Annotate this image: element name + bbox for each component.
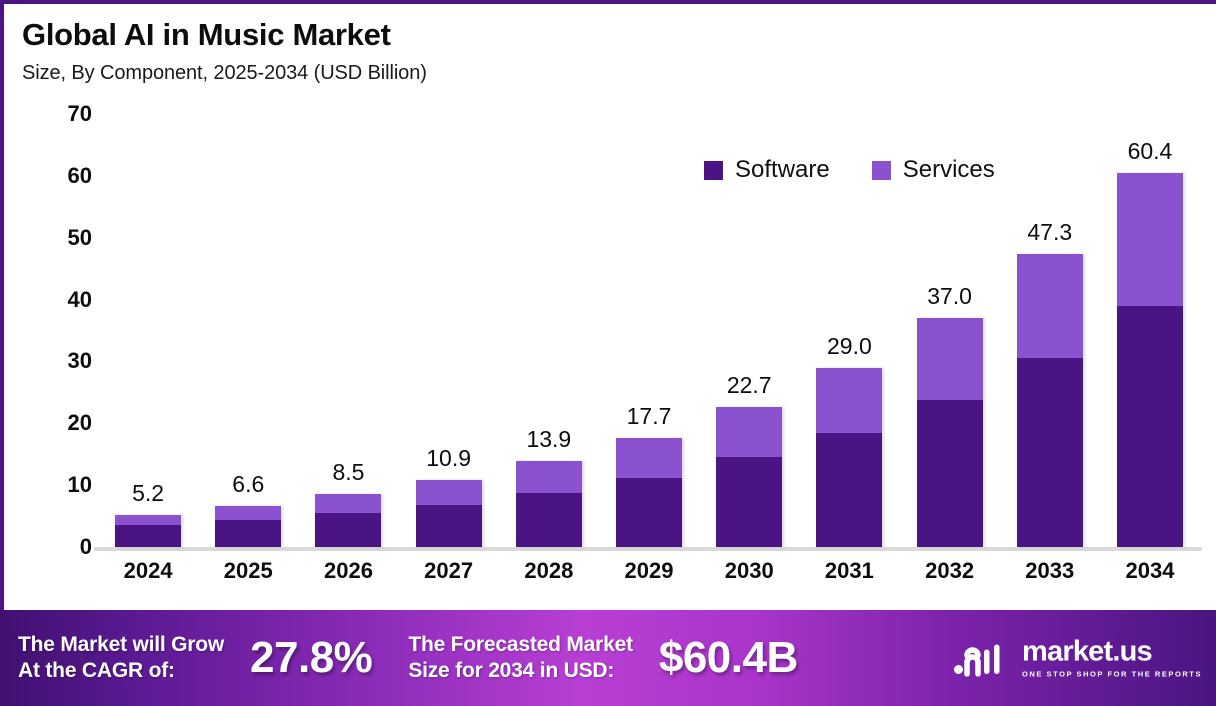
y-axis-tick: 70 bbox=[68, 101, 92, 127]
bar-total-label: 29.0 bbox=[799, 333, 899, 360]
bar-column[interactable]: 17.7 bbox=[599, 114, 699, 547]
bar-segment-software[interactable] bbox=[115, 525, 181, 547]
logo-text: market.us ONE STOP SHOP FOR THE REPORTS bbox=[1022, 638, 1202, 679]
bar-column[interactable]: 13.9 bbox=[499, 114, 599, 547]
bar-segment-services[interactable] bbox=[115, 515, 181, 526]
bar-stack[interactable] bbox=[215, 506, 281, 547]
bar-stack[interactable] bbox=[416, 480, 482, 547]
summary-banner: The Market will Grow At the CAGR of: 27.… bbox=[0, 610, 1216, 706]
forecast-caption: The Forecasted Market Size for 2034 in U… bbox=[408, 632, 633, 685]
chart-subtitle: Size, By Component, 2025-2034 (USD Billi… bbox=[22, 62, 1216, 85]
bar-total-label: 47.3 bbox=[1000, 219, 1100, 246]
bar-column[interactable]: 60.4 bbox=[1100, 114, 1200, 547]
bar-stack[interactable] bbox=[816, 368, 882, 547]
bar-total-label: 6.6 bbox=[198, 471, 298, 498]
forecast-caption-line2: Size for 2034 in USD: bbox=[408, 658, 633, 684]
forecast-block: The Forecasted Market Size for 2034 in U… bbox=[408, 632, 797, 685]
chart-plot-area: SoftwareServices 010203040506070 5.26.68… bbox=[4, 114, 1216, 604]
bar-column[interactable]: 47.3 bbox=[1000, 114, 1100, 547]
x-axis-tick-label: 2030 bbox=[699, 558, 799, 584]
y-axis-tick: 20 bbox=[68, 410, 92, 436]
bar-segment-services[interactable] bbox=[416, 480, 482, 505]
bar-stack[interactable] bbox=[616, 438, 682, 547]
bar-stack[interactable] bbox=[115, 515, 181, 547]
bar-segment-services[interactable] bbox=[816, 368, 882, 434]
bar-total-label: 37.0 bbox=[900, 283, 1000, 310]
bar-segment-software[interactable] bbox=[215, 520, 281, 547]
x-axis-tick-label: 2033 bbox=[1000, 558, 1100, 584]
bar-column[interactable]: 6.6 bbox=[198, 114, 298, 547]
bar-segment-services[interactable] bbox=[917, 318, 983, 400]
market-us-logo[interactable]: market.us ONE STOP SHOP FOR THE REPORTS bbox=[954, 638, 1202, 679]
bar-segment-software[interactable] bbox=[616, 478, 682, 547]
bar-segment-services[interactable] bbox=[716, 407, 782, 458]
bar-column[interactable]: 37.0 bbox=[900, 114, 1000, 547]
chart-header: Global AI in Music Market Size, By Compo… bbox=[4, 4, 1216, 85]
bar-total-label: 13.9 bbox=[499, 426, 599, 453]
x-axis: 2024202520262027202820292030203120322033… bbox=[98, 558, 1200, 584]
bar-segment-software[interactable] bbox=[315, 513, 381, 547]
cagr-value: 27.8% bbox=[250, 633, 372, 683]
y-axis-tick: 40 bbox=[68, 287, 92, 313]
bar-total-label: 17.7 bbox=[599, 403, 699, 430]
bar-segment-services[interactable] bbox=[315, 494, 381, 513]
y-axis-tick: 10 bbox=[68, 472, 92, 498]
x-axis-tick-label: 2031 bbox=[799, 558, 899, 584]
bar-segment-services[interactable] bbox=[616, 438, 682, 478]
chart-infographic: Global AI in Music Market Size, By Compo… bbox=[0, 0, 1216, 706]
bar-stack[interactable] bbox=[516, 461, 582, 547]
y-axis-tick: 30 bbox=[68, 348, 92, 374]
x-axis-tick-label: 2029 bbox=[599, 558, 699, 584]
bar-stack[interactable] bbox=[716, 407, 782, 547]
bar-stack[interactable] bbox=[917, 318, 983, 547]
bar-column[interactable]: 8.5 bbox=[298, 114, 398, 547]
page-title: Global AI in Music Market bbox=[22, 18, 1216, 52]
bar-column[interactable]: 10.9 bbox=[399, 114, 499, 547]
y-axis: 010203040506070 bbox=[40, 114, 92, 551]
y-axis-tick: 50 bbox=[68, 225, 92, 251]
x-axis-tick-label: 2024 bbox=[98, 558, 198, 584]
x-axis-tick-label: 2025 bbox=[198, 558, 298, 584]
bar-total-label: 60.4 bbox=[1100, 138, 1200, 165]
x-axis-tick-label: 2027 bbox=[399, 558, 499, 584]
bar-segment-software[interactable] bbox=[1017, 358, 1083, 547]
bar-column[interactable]: 29.0 bbox=[799, 114, 899, 547]
x-axis-tick-label: 2026 bbox=[298, 558, 398, 584]
bar-segment-services[interactable] bbox=[215, 506, 281, 520]
bar-stack[interactable] bbox=[1117, 173, 1183, 547]
bar-segment-software[interactable] bbox=[816, 433, 882, 547]
bar-total-label: 5.2 bbox=[98, 480, 198, 507]
bar-segment-software[interactable] bbox=[716, 457, 782, 547]
bar-total-label: 22.7 bbox=[699, 372, 799, 399]
bar-total-label: 10.9 bbox=[399, 445, 499, 472]
bar-segment-services[interactable] bbox=[1017, 254, 1083, 358]
cagr-caption: The Market will Grow At the CAGR of: bbox=[18, 632, 224, 685]
forecast-value: $60.4B bbox=[659, 633, 798, 683]
bar-column[interactable]: 5.2 bbox=[98, 114, 198, 547]
bar-segment-services[interactable] bbox=[1117, 173, 1183, 306]
bar-series-group: 5.26.68.510.913.917.722.729.037.047.360.… bbox=[98, 114, 1200, 547]
cagr-caption-line1: The Market will Grow bbox=[18, 632, 224, 658]
x-axis-tick-label: 2028 bbox=[499, 558, 599, 584]
bar-stack[interactable] bbox=[1017, 254, 1083, 547]
market-us-logo-icon bbox=[954, 640, 1012, 676]
bar-segment-software[interactable] bbox=[416, 505, 482, 547]
bar-segment-software[interactable] bbox=[516, 493, 582, 547]
bar-segment-software[interactable] bbox=[917, 400, 983, 547]
x-axis-tick-label: 2034 bbox=[1100, 558, 1200, 584]
cagr-caption-line2: At the CAGR of: bbox=[18, 658, 224, 684]
x-axis-baseline bbox=[94, 547, 1202, 551]
bar-segment-services[interactable] bbox=[516, 461, 582, 493]
bar-segment-software[interactable] bbox=[1117, 306, 1183, 547]
forecast-caption-line1: The Forecasted Market bbox=[408, 632, 633, 658]
bar-column[interactable]: 22.7 bbox=[699, 114, 799, 547]
y-axis-tick: 0 bbox=[80, 534, 92, 560]
bar-total-label: 8.5 bbox=[298, 459, 398, 486]
logo-name: market.us bbox=[1022, 638, 1202, 667]
bar-stack[interactable] bbox=[315, 494, 381, 547]
logo-tagline: ONE STOP SHOP FOR THE REPORTS bbox=[1022, 670, 1202, 679]
cagr-block: The Market will Grow At the CAGR of: 27.… bbox=[18, 632, 372, 685]
x-axis-tick-label: 2032 bbox=[900, 558, 1000, 584]
y-axis-tick: 60 bbox=[68, 163, 92, 189]
